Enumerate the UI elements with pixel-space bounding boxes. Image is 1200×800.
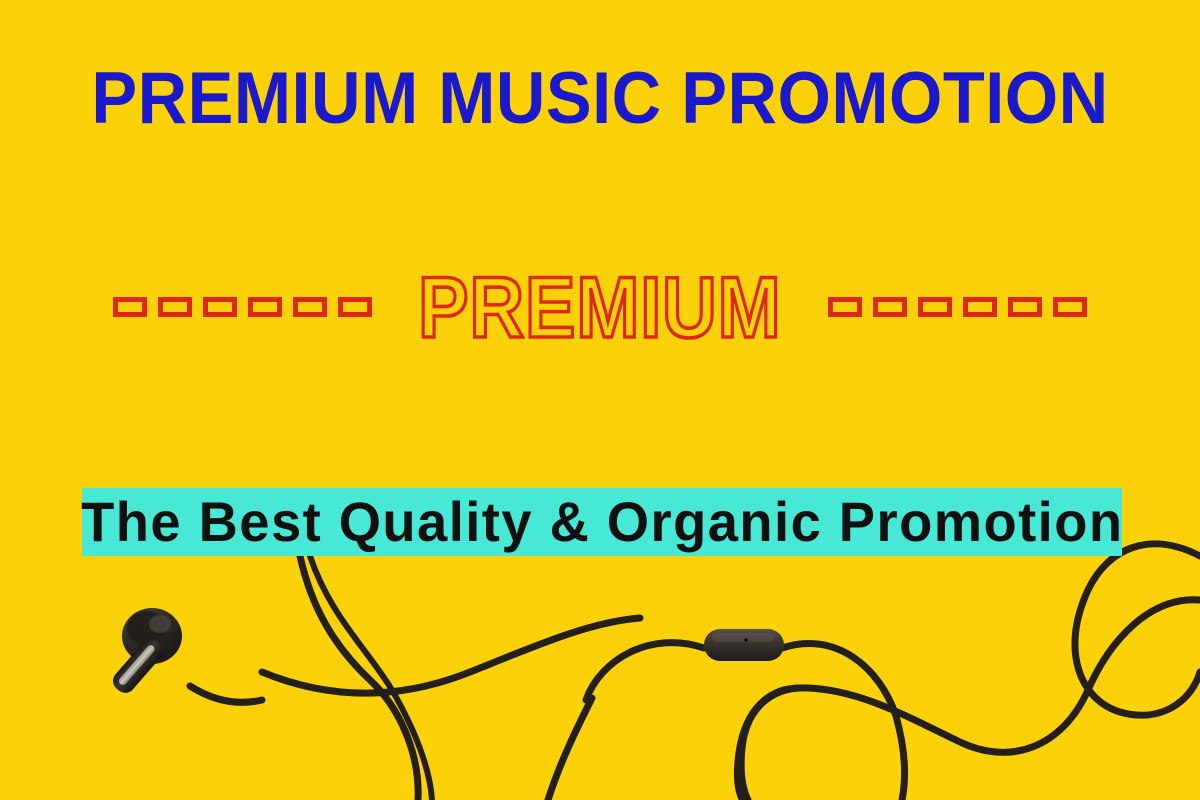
dash-mark xyxy=(113,297,147,317)
dash-mark xyxy=(918,297,952,317)
tagline-text: The Best Quality & Organic Promotion xyxy=(81,494,1123,550)
dash-mark xyxy=(963,297,997,317)
dash-mark xyxy=(338,297,372,317)
page-title: PREMIUM MUSIC PROMOTION xyxy=(36,62,1164,135)
dash-group-right xyxy=(828,297,1087,317)
dash-mark xyxy=(1008,297,1042,317)
cables xyxy=(262,544,1200,800)
premium-divider-row: PREMIUM xyxy=(0,272,1200,342)
dash-mark xyxy=(248,297,282,317)
dash-group-left xyxy=(113,297,372,317)
dash-mark xyxy=(203,297,237,317)
dash-mark xyxy=(1053,297,1087,317)
tagline-band: The Best Quality & Organic Promotion xyxy=(82,488,1122,556)
left-earbud xyxy=(109,608,262,702)
dash-mark xyxy=(158,297,192,317)
dash-mark xyxy=(828,297,862,317)
poster-canvas: PREMIUM MUSIC PROMOTION PREMIUM The Best… xyxy=(0,0,1200,800)
inline-remote xyxy=(704,629,784,661)
dash-mark xyxy=(293,297,327,317)
dash-mark xyxy=(873,297,907,317)
premium-outline-label: PREMIUM xyxy=(418,264,781,351)
